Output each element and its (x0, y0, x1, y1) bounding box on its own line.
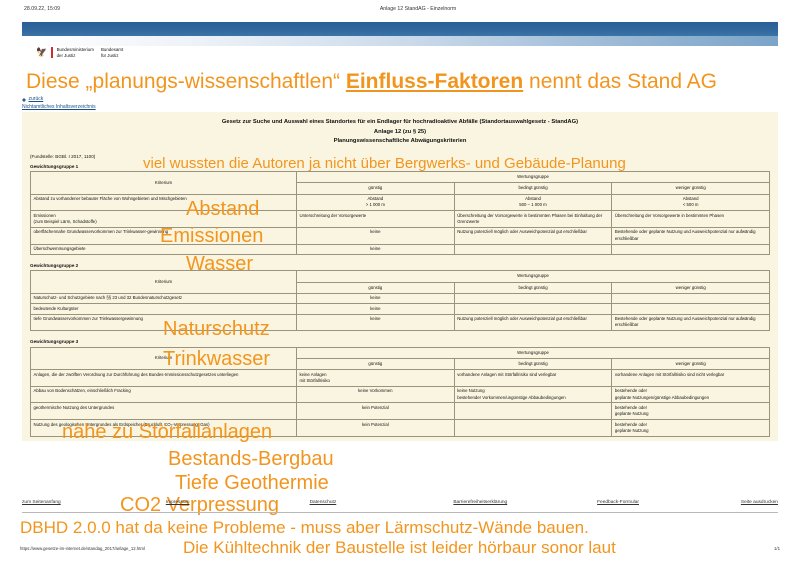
subheader-1: bedingt günstig (454, 282, 612, 293)
back-link[interactable]: zurück (22, 96, 96, 102)
back-link-label[interactable]: zurück (29, 96, 44, 102)
cell-kriterium: Emissionen (zum Beispiel Lärm, Schadstof… (31, 211, 297, 228)
logo-ministry-line2: der Justiz (57, 53, 94, 59)
print-header: 28.09.22, 15:09 Anlage 12 StandAG - Einz… (0, 6, 800, 12)
annotation-headline: Diese „planungs-wissenschaftlen“ Einflus… (26, 70, 717, 94)
document-title-line2: Anlage 12 (zu § 25) (30, 128, 770, 138)
cell-bedingt: Abstand 500 – 1 000 m (454, 194, 612, 211)
table-header-row: KriteriumWertungsgruppe (31, 347, 770, 358)
cell-bedingt (454, 403, 612, 420)
cell-kriterium: Überschwemmungsgebiete (31, 244, 297, 254)
cell-bedingt (454, 420, 612, 437)
cell-guenstig: keine (297, 314, 455, 331)
cell-bedingt: Überschreitung der Vorsorgewerte in best… (454, 211, 612, 228)
cell-kriterium: Abbau von Bodenschätzen, einschließlich … (31, 386, 297, 403)
cell-guenstig: keine Anlagen mit Störfallrisiko (297, 370, 455, 387)
annotation-bestands-bergbau: Bestands-Bergbau (168, 448, 334, 471)
footer-link-5[interactable]: Seite ausdrucken (741, 500, 778, 505)
footer-link-1[interactable]: Impressum (166, 500, 310, 505)
subheader-2: weniger günstig (612, 183, 770, 194)
cell-bedingt: vorhandene Anlagen mit Störfallrisiko si… (454, 370, 612, 387)
fundstelle-text: (Fundstelle: BGBl. I 2017, 1100) (30, 154, 770, 159)
table-row: bedeutende Kulturgüterkeine (31, 304, 770, 314)
cell-guenstig: keine (297, 244, 455, 254)
cell-weniger: Überschreitung der Vorsorgewerte in best… (612, 211, 770, 228)
cell-guenstig: Unterschreitung der Vorsorgewerte (297, 211, 455, 228)
document-body: Gesetz zur Suche und Auswahl eines Stand… (22, 112, 778, 441)
document-title: Gesetz zur Suche und Auswahl eines Stand… (30, 118, 770, 147)
subheader-0: günstig (297, 359, 455, 370)
cell-weniger (612, 293, 770, 303)
cell-bedingt (454, 304, 612, 314)
footer-link-label[interactable]: Seite ausdrucken (741, 500, 778, 505)
document-title-line1: Gesetz zur Suche und Auswahl eines Stand… (30, 118, 770, 128)
header-kriterium: Kriterium (31, 347, 297, 369)
subheader-0: günstig (297, 183, 455, 194)
table-row: Emissionen (zum Beispiel Lärm, Schadstof… (31, 211, 770, 228)
cell-weniger: bestehende oder geplante Nutzung (612, 420, 770, 437)
cell-kriterium: Naturschutz- und Schutzgebiete nach §§ 2… (31, 293, 297, 303)
group-label: Gewichtungsgruppe 1 (30, 164, 770, 169)
cell-weniger: vorhandene Anlagen mit Störfallrisiko si… (612, 370, 770, 387)
cell-bedingt (454, 293, 612, 303)
cell-kriterium: Abstand zu vorhandener bebauter Fläche v… (31, 194, 297, 211)
table-row: Abbau von Bodenschätzen, einschließlich … (31, 386, 770, 403)
cell-guenstig: keine (297, 227, 455, 244)
footer-link-label[interactable]: Feedback-Formular (597, 500, 639, 505)
header-wertungsgruppe: Wertungsgruppe (297, 172, 770, 183)
banner-top-bar (22, 22, 778, 36)
cell-bedingt: Nutzung potenziell möglich oder Ausweich… (454, 227, 612, 244)
print-title: Anlage 12 StandAG - Einzelnorm (60, 6, 776, 12)
table-row: Überschwemmungsgebietekeine (31, 244, 770, 254)
site-banner (22, 22, 778, 46)
subheader-1: bedingt günstig (454, 359, 612, 370)
table-row: Abstand zu vorhandener bebauter Fläche v… (31, 194, 770, 211)
table-row: geothermische Nutzung des Untergrundeske… (31, 403, 770, 420)
group-label: Gewichtungsgruppe 2 (30, 263, 770, 268)
cell-guenstig: keine Vorkommen (297, 386, 455, 403)
cell-weniger: Abstand < 500 m (612, 194, 770, 211)
footer-link-label[interactable]: Datenschutz (310, 500, 337, 505)
navigation-links: zurück Nichtamtliches Inhaltsverzeichnis (22, 96, 96, 110)
footer-link-label[interactable]: zum Seitenanfang (22, 500, 61, 505)
cell-weniger: Bestehende oder geplante Nutzung und Aus… (612, 227, 770, 244)
cell-guenstig: kein Potenzial (297, 403, 455, 420)
cell-weniger: Bestehende oder geplante Nutzung und Aus… (612, 314, 770, 331)
subheader-0: günstig (297, 282, 455, 293)
cell-weniger (612, 304, 770, 314)
cell-guenstig: keine (297, 304, 455, 314)
cell-kriterium: Anlagen, die der zwölften Verordnung zur… (31, 370, 297, 387)
table-header-row: KriteriumWertungsgruppe (31, 172, 770, 183)
cell-kriterium: geothermische Nutzung des Untergrundes (31, 403, 297, 420)
footer-link-4[interactable]: Feedback-Formular (597, 500, 741, 505)
table-row: Anlagen, die der zwölften Verordnung zur… (31, 370, 770, 387)
logo-ministry-text: Bundesministerium der Justiz (57, 47, 94, 59)
header-wertungsgruppe: Wertungsgruppe (297, 271, 770, 282)
footer-link-label[interactable]: Impressum (166, 500, 190, 505)
cell-kriterium: Nutzung des geologischen Untergrundes al… (31, 420, 297, 437)
page-number: 1/1 (774, 546, 780, 551)
annotation-bottom-line1: DBHD 2.0.0 hat da keine Probleme - muss … (20, 518, 589, 538)
header-kriterium: Kriterium (31, 271, 297, 293)
federal-eagle-icon: 🦅 (36, 48, 47, 57)
logo-office-line2: für Justiz (101, 53, 123, 59)
header-kriterium: Kriterium (31, 172, 297, 194)
table-row: oberflächennahe Grundwasservorkommen zur… (31, 227, 770, 244)
cell-weniger: bestehende oder geplante Nutzung (612, 403, 770, 420)
annotation-headline-part2: nennt das Stand AG (523, 70, 717, 93)
footer-link-3[interactable]: Barrierefreiheitserklärung (453, 500, 597, 505)
logo-divider (51, 47, 52, 58)
logo-office-text: Bundesamt für Justiz (101, 47, 123, 59)
table-header-row: KriteriumWertungsgruppe (31, 271, 770, 282)
print-url: https://www.gesetze-im-internet.de/stand… (20, 546, 145, 551)
criteria-table: KriteriumWertungsgruppegünstigbedingt gü… (30, 270, 770, 331)
cell-bedingt (454, 244, 612, 254)
annotation-co2-verpressung: CO2 Verpressung (120, 494, 279, 517)
footer-link-label[interactable]: Barrierefreiheitserklärung (453, 500, 507, 505)
group-label: Gewichtungsgruppe 3 (30, 339, 770, 344)
subheader-2: weniger günstig (612, 282, 770, 293)
print-date: 28.09.22, 15:09 (24, 6, 60, 12)
footer-divider (22, 512, 778, 513)
subheader-2: weniger günstig (612, 359, 770, 370)
cell-bedingt: Nutzung potenziell möglich oder Ausweich… (454, 314, 612, 331)
cell-guenstig: keine (297, 293, 455, 303)
criteria-tables: Gewichtungsgruppe 1KriteriumWertungsgrup… (30, 164, 770, 437)
table-row: Naturschutz- und Schutzgebiete nach §§ 2… (31, 293, 770, 303)
banner-gradient-bar (22, 36, 778, 46)
cell-weniger: bestehende oder geplante Nutzungen/günst… (612, 386, 770, 403)
annotation-headline-highlight: Einfluss-Faktoren (346, 70, 523, 93)
ministry-logo: 🦅 Bundesministerium der Justiz Bundesamt… (36, 47, 123, 59)
toc-link[interactable]: Nichtamtliches Inhaltsverzeichnis (22, 104, 96, 110)
footer-link-0[interactable]: zum Seitenanfang (22, 500, 166, 505)
cell-bedingt: keine Nutzung bestehender Vorkommen/ungü… (454, 386, 612, 403)
cell-weniger (612, 244, 770, 254)
diamond-bullet-icon (22, 96, 26, 100)
cell-kriterium: oberflächennahe Grundwasservorkommen zur… (31, 227, 297, 244)
subheader-1: bedingt günstig (454, 183, 612, 194)
toc-link-label[interactable]: Nichtamtliches Inhaltsverzeichnis (22, 104, 96, 110)
cell-guenstig: Abstand > 1 000 m (297, 194, 455, 211)
annotation-bottom-line2: Die Kühltechnik der Baustelle ist leider… (183, 538, 616, 558)
annotation-headline-part1: Diese „planungs-wissenschaftlen“ (26, 70, 346, 93)
header-wertungsgruppe: Wertungsgruppe (297, 347, 770, 358)
cell-kriterium: bedeutende Kulturgüter (31, 304, 297, 314)
footer-links: zum SeitenanfangImpressumDatenschutzBarr… (22, 500, 778, 505)
criteria-table: KriteriumWertungsgruppegünstigbedingt gü… (30, 171, 770, 255)
annotation-tiefe-geothermie: Tiefe Geothermie (175, 472, 329, 495)
cell-kriterium: tiefe Grundwasservorkommen zur Trinkwass… (31, 314, 297, 331)
table-row: tiefe Grundwasservorkommen zur Trinkwass… (31, 314, 770, 331)
cell-guenstig: kein Potenzial (297, 420, 455, 437)
footer-link-2[interactable]: Datenschutz (310, 500, 454, 505)
table-row: Nutzung des geologischen Untergrundes al… (31, 420, 770, 437)
document-title-line3: Planungswissenschaftliche Abwägungskrite… (30, 137, 770, 147)
criteria-table: KriteriumWertungsgruppegünstigbedingt gü… (30, 347, 770, 437)
